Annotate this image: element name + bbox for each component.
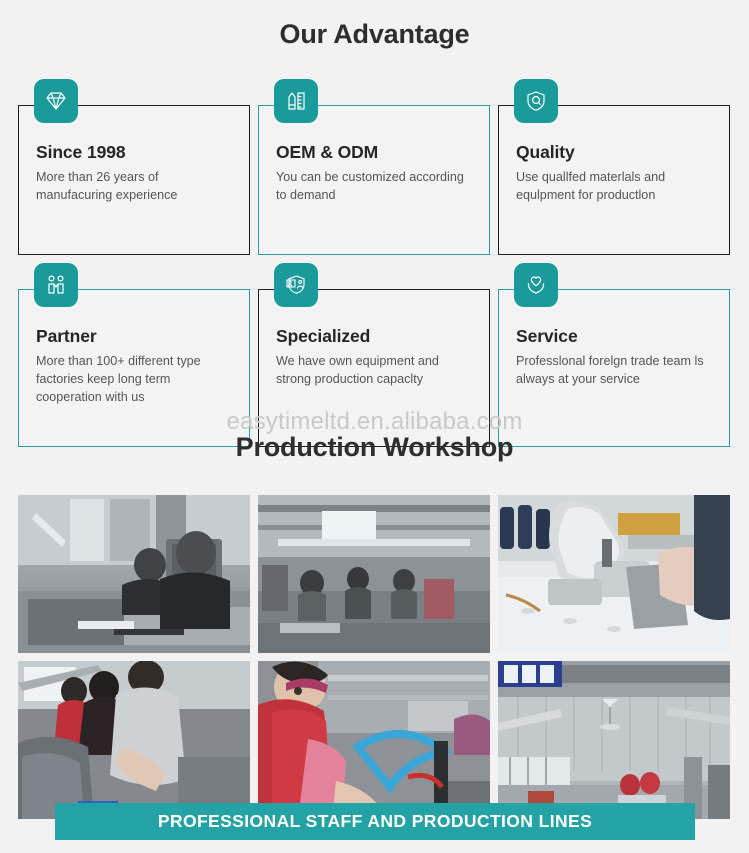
- workshop-photo-industrial-sewing-machine-closeup: [498, 495, 730, 653]
- advantage-card-title: Partner: [36, 326, 235, 346]
- workshop-photo-office-workers-at-computers: [18, 495, 250, 653]
- advantage-card-grid: Since 1998 More than 26 years of manufac…: [18, 78, 731, 447]
- advantage-card-title: Since 1998: [36, 142, 235, 162]
- heart-hands-icon: [514, 263, 558, 307]
- workshop-photo-grid: [18, 495, 731, 819]
- advantage-card-partner[interactable]: Partner More than 100+ different type fa…: [18, 289, 250, 447]
- workshop-title: Production Workshop: [0, 432, 749, 463]
- advantage-card-title: Specialized: [276, 326, 475, 346]
- advantage-card-body: Partner More than 100+ different type fa…: [19, 290, 249, 407]
- advantage-card-title: Service: [516, 326, 715, 346]
- advantage-card-title: Quality: [516, 142, 715, 162]
- advantage-card-description: More than 26 years of manufacuring exper…: [36, 169, 235, 205]
- production-lines-banner: PROFESSIONAL STAFF AND PRODUCTION LINES: [55, 803, 695, 840]
- advantage-card-description: Professlonal forelgn trade team ls alway…: [516, 353, 715, 389]
- advantage-card-description: More than 100+ different type factories …: [36, 353, 235, 407]
- advantage-card-specialized[interactable]: Specialized We have own equipment and st…: [258, 289, 490, 447]
- workshop-photo-wide-factory-production-hall: [498, 661, 730, 819]
- advantage-card-quality[interactable]: Quality Use quallfed materlals and equlp…: [498, 105, 730, 255]
- workshop-photo-workers-packing-garments: [18, 661, 250, 819]
- advantage-card-oem-odm[interactable]: OEM & ODM You can be customized accordin…: [258, 105, 490, 255]
- advantage-card-description: You can be customized according to deman…: [276, 169, 475, 205]
- page-title: Our Advantage: [0, 0, 749, 50]
- shield-people-icon: [274, 263, 318, 307]
- advantage-card-description: Use quallfed materlals and equlpment for…: [516, 169, 715, 205]
- advantage-card-since-1998[interactable]: Since 1998 More than 26 years of manufac…: [18, 105, 250, 255]
- partner-people-icon: [34, 263, 78, 307]
- advantage-card-title: OEM & ODM: [276, 142, 475, 162]
- pencil-ruler-icon: [274, 79, 318, 123]
- advantage-card-description: We have own equipment and strong product…: [276, 353, 475, 389]
- workshop-photo-factory-floor-sewing-hall: [258, 495, 490, 653]
- diamond-icon: [34, 79, 78, 123]
- banner-label: PROFESSIONAL STAFF AND PRODUCTION LINES: [158, 811, 592, 832]
- shield-check-icon: [514, 79, 558, 123]
- workshop-photo-worker-in-red-sewing: [258, 661, 490, 819]
- advantage-card-service[interactable]: Service Professlonal forelgn trade team …: [498, 289, 730, 447]
